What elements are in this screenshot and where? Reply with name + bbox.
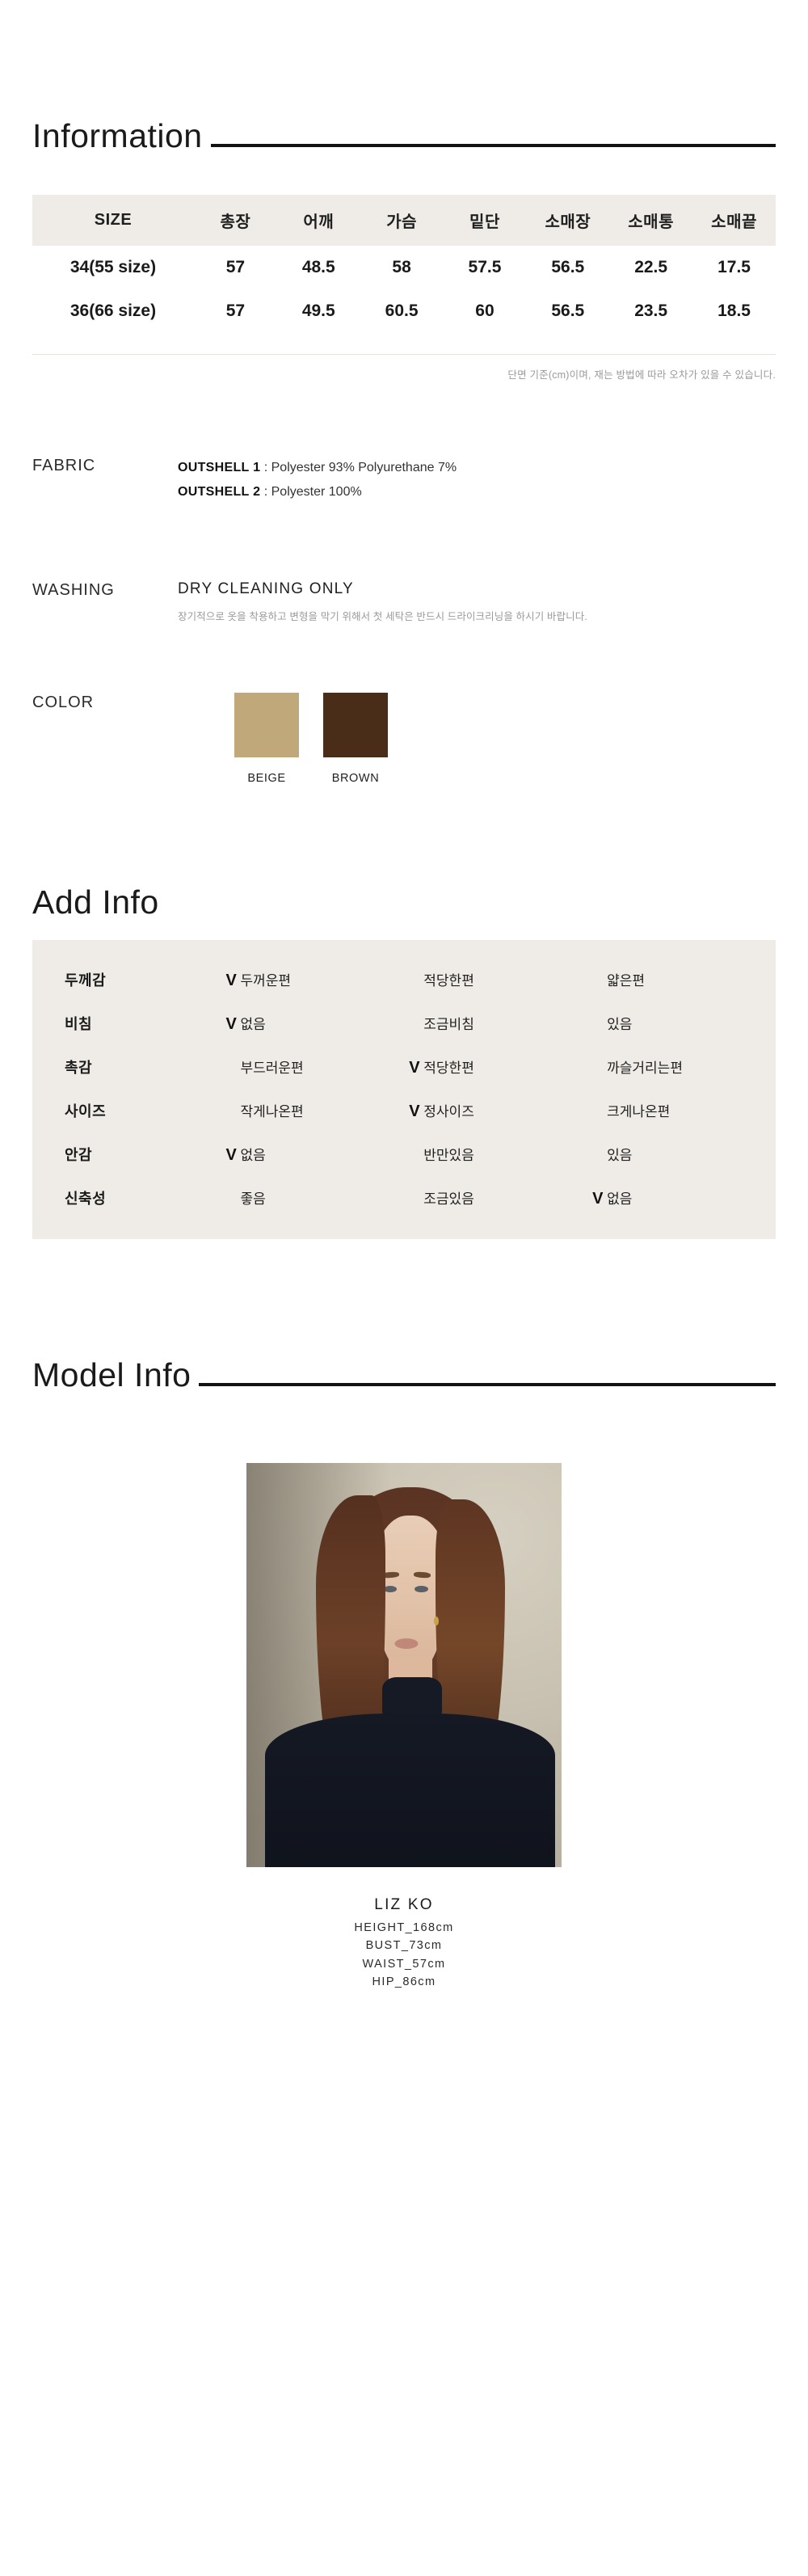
heading-rule <box>211 144 776 147</box>
fabric-line: OUTSHELL 1 : Polyester 93% Polyurethane … <box>178 456 776 480</box>
add-info-option-label: 크게나온편 <box>607 1104 670 1119</box>
size-cell: 58 <box>360 246 444 289</box>
model-photo-container <box>0 1463 808 1867</box>
add-info-option-label: 없음 <box>240 1148 265 1163</box>
check-icon: V <box>225 972 240 990</box>
table-row: 촉감 V부드러운편 V적당한편 V까슬거리는편 <box>32 1045 776 1089</box>
add-info-option[interactable]: V좋음 <box>225 1176 409 1220</box>
product-detail-page: Information SIZE 총장 어깨 가슴 밑단 소매장 소매통 소매끝… <box>0 0 808 1992</box>
size-col-header-cuff: 소매끝 <box>692 195 776 246</box>
size-col-header-total-length: 총장 <box>194 195 277 246</box>
add-info-section-heading: Add Info <box>0 886 808 919</box>
add-info-option[interactable]: V조금비침 <box>409 1001 592 1045</box>
color-block: COLOR BEIGE BROWN <box>0 693 808 785</box>
add-info-table: 두께감 V두꺼운편 V적당한편 V얇은편 비침 V없음 V조금비침 V있음 촉감… <box>32 958 776 1220</box>
add-info-option[interactable]: V작게나온편 <box>225 1089 409 1132</box>
check-icon: V <box>225 1015 240 1034</box>
add-info-option-label: 없음 <box>240 1017 265 1032</box>
table-row: 안감 V없음 V반만있음 V있음 <box>32 1132 776 1176</box>
check-icon: V <box>225 1146 240 1165</box>
size-cell: 18.5 <box>692 289 776 333</box>
add-info-option-label: 조금비침 <box>423 1017 474 1032</box>
add-info-option[interactable]: V없음 <box>592 1176 776 1220</box>
size-row-label: 36(66 size) <box>32 289 194 333</box>
fabric-label: FABRIC <box>32 456 178 475</box>
model-height: HEIGHT_168cm <box>0 1919 808 1937</box>
fabric-line-sep: : <box>260 485 271 499</box>
size-col-header-size: SIZE <box>32 195 194 246</box>
size-col-header-chest: 가슴 <box>360 195 444 246</box>
size-cell: 49.5 <box>277 289 360 333</box>
table-row: 36(66 size) 57 49.5 60.5 60 56.5 23.5 18… <box>32 289 776 333</box>
fabric-line-title: OUTSHELL 1 <box>178 461 260 474</box>
color-swatch-list: BEIGE BROWN <box>234 693 388 785</box>
model-info-section-heading: Model Info <box>0 1359 808 1392</box>
size-col-header-hem: 밑단 <box>444 195 527 246</box>
add-info-option-label: 얇은편 <box>607 973 645 989</box>
add-info-option-label: 반만있음 <box>423 1148 474 1163</box>
add-info-option-label: 부드러운편 <box>240 1060 303 1076</box>
add-info-option[interactable]: V적당한편 <box>409 958 592 1001</box>
color-swatch-chip[interactable] <box>323 693 388 757</box>
size-cell: 48.5 <box>277 246 360 289</box>
size-measure-note: 단면 기준(cm)이며, 재는 방법에 따라 오차가 있을 수 있습니다. <box>32 355 776 382</box>
color-swatch-label: BROWN <box>323 772 388 785</box>
add-info-option-label: 있음 <box>607 1148 632 1163</box>
color-swatch-chip[interactable] <box>234 693 299 757</box>
table-row: 신축성 V좋음 V조금있음 V없음 <box>32 1176 776 1220</box>
add-info-option-label: 정사이즈 <box>423 1104 474 1119</box>
size-table-header-row: SIZE 총장 어깨 가슴 밑단 소매장 소매통 소매끝 <box>32 195 776 246</box>
washing-block: WASHING DRY CLEANING ONLY 장기적으로 옷을 착용하고 … <box>0 580 808 623</box>
washing-label: WASHING <box>32 580 178 600</box>
add-info-option-label: 까슬거리는편 <box>607 1060 683 1076</box>
add-info-option[interactable]: V없음 <box>225 1001 409 1045</box>
add-info-option[interactable]: V크게나온편 <box>592 1089 776 1132</box>
fabric-line-text: Polyester 93% Polyurethane 7% <box>271 461 457 474</box>
add-info-option-label: 적당한편 <box>423 1060 474 1076</box>
add-info-option[interactable]: V조금있음 <box>409 1176 592 1220</box>
add-info-option[interactable]: V반만있음 <box>409 1132 592 1176</box>
add-info-row-label: 두께감 <box>32 958 225 1001</box>
add-info-title: Add Info <box>32 886 159 919</box>
add-info-option-label: 있음 <box>607 1017 632 1032</box>
fabric-line-title: OUTSHELL 2 <box>178 485 260 499</box>
color-swatch-brown[interactable]: BROWN <box>323 693 388 785</box>
color-swatch-beige[interactable]: BEIGE <box>234 693 299 785</box>
add-info-option[interactable]: V있음 <box>592 1132 776 1176</box>
model-lips <box>395 1638 419 1649</box>
fabric-line-sep: : <box>260 461 271 474</box>
model-bust: BUST_73cm <box>0 1937 808 1954</box>
size-cell: 57.5 <box>444 246 527 289</box>
table-row: 34(55 size) 57 48.5 58 57.5 56.5 22.5 17… <box>32 246 776 289</box>
table-row: 사이즈 V작게나온편 V정사이즈 V크게나온편 <box>32 1089 776 1132</box>
check-icon: V <box>409 1059 423 1077</box>
table-row: 두께감 V두꺼운편 V적당한편 V얇은편 <box>32 958 776 1001</box>
size-table: SIZE 총장 어깨 가슴 밑단 소매장 소매통 소매끝 34(55 size)… <box>32 195 776 333</box>
size-col-header-sleeve-width: 소매통 <box>609 195 692 246</box>
size-cell: 57 <box>194 289 277 333</box>
add-info-option-label: 두꺼운편 <box>240 973 291 989</box>
add-info-option-label: 좋음 <box>240 1191 265 1207</box>
add-info-option-label: 조금있음 <box>423 1191 474 1207</box>
size-row-label: 34(55 size) <box>32 246 194 289</box>
check-icon: V <box>592 1190 607 1208</box>
fabric-block: FABRIC OUTSHELL 1 : Polyester 93% Polyur… <box>0 456 808 505</box>
add-info-option-label: 작게나온편 <box>240 1104 303 1119</box>
size-cell: 57 <box>194 246 277 289</box>
add-info-option-label: 적당한편 <box>423 973 474 989</box>
add-info-row-label: 안감 <box>32 1132 225 1176</box>
table-row: 비침 V없음 V조금비침 V있음 <box>32 1001 776 1045</box>
washing-value: DRY CLEANING ONLY <box>178 580 776 598</box>
add-info-option[interactable]: V있음 <box>592 1001 776 1045</box>
add-info-panel: 두께감 V두꺼운편 V적당한편 V얇은편 비침 V없음 V조금비침 V있음 촉감… <box>32 940 776 1239</box>
size-cell: 22.5 <box>609 246 692 289</box>
size-cell: 23.5 <box>609 289 692 333</box>
add-info-row-label: 비침 <box>32 1001 225 1045</box>
model-waist: WAIST_57cm <box>0 1955 808 1973</box>
add-info-row-label: 신축성 <box>32 1176 225 1220</box>
check-icon: V <box>409 1102 423 1121</box>
color-swatch-label: BEIGE <box>234 772 299 785</box>
add-info-option-label: 없음 <box>607 1191 632 1207</box>
add-info-option[interactable]: V두꺼운편 <box>225 958 409 1001</box>
fabric-line-text: Polyester 100% <box>271 485 362 499</box>
size-cell: 17.5 <box>692 246 776 289</box>
fabric-line: OUTSHELL 2 : Polyester 100% <box>178 480 776 504</box>
page-title: Information <box>32 120 203 153</box>
size-cell: 60 <box>444 289 527 333</box>
add-info-option[interactable]: V정사이즈 <box>409 1089 592 1132</box>
washing-note: 장기적으로 옷을 착용하고 변형을 막기 위해서 첫 세탁은 반드시 드라이크리… <box>178 598 776 623</box>
size-col-header-sleeve-length: 소매장 <box>526 195 609 246</box>
model-info-title: Model Info <box>32 1359 191 1392</box>
color-label: COLOR <box>32 693 178 712</box>
size-cell: 56.5 <box>526 246 609 289</box>
add-info-option[interactable]: V적당한편 <box>409 1045 592 1089</box>
add-info-option[interactable]: V없음 <box>225 1132 409 1176</box>
model-hip: HIP_86cm <box>0 1973 808 1991</box>
add-info-option[interactable]: V까슬거리는편 <box>592 1045 776 1089</box>
model-name: LIZ KO <box>0 1896 808 1914</box>
heading-rule <box>199 1383 776 1386</box>
model-garment-body <box>265 1714 555 1867</box>
add-info-row-label: 사이즈 <box>32 1089 225 1132</box>
size-cell: 60.5 <box>360 289 444 333</box>
add-info-option[interactable]: V부드러운편 <box>225 1045 409 1089</box>
model-portrait-image <box>246 1463 562 1867</box>
size-cell: 56.5 <box>526 289 609 333</box>
add-info-option[interactable]: V얇은편 <box>592 958 776 1001</box>
size-col-header-shoulder: 어깨 <box>277 195 360 246</box>
information-section-heading: Information <box>0 120 808 153</box>
add-info-row-label: 촉감 <box>32 1045 225 1089</box>
model-measurements: HEIGHT_168cm BUST_73cm WAIST_57cm HIP_86… <box>0 1919 808 1992</box>
